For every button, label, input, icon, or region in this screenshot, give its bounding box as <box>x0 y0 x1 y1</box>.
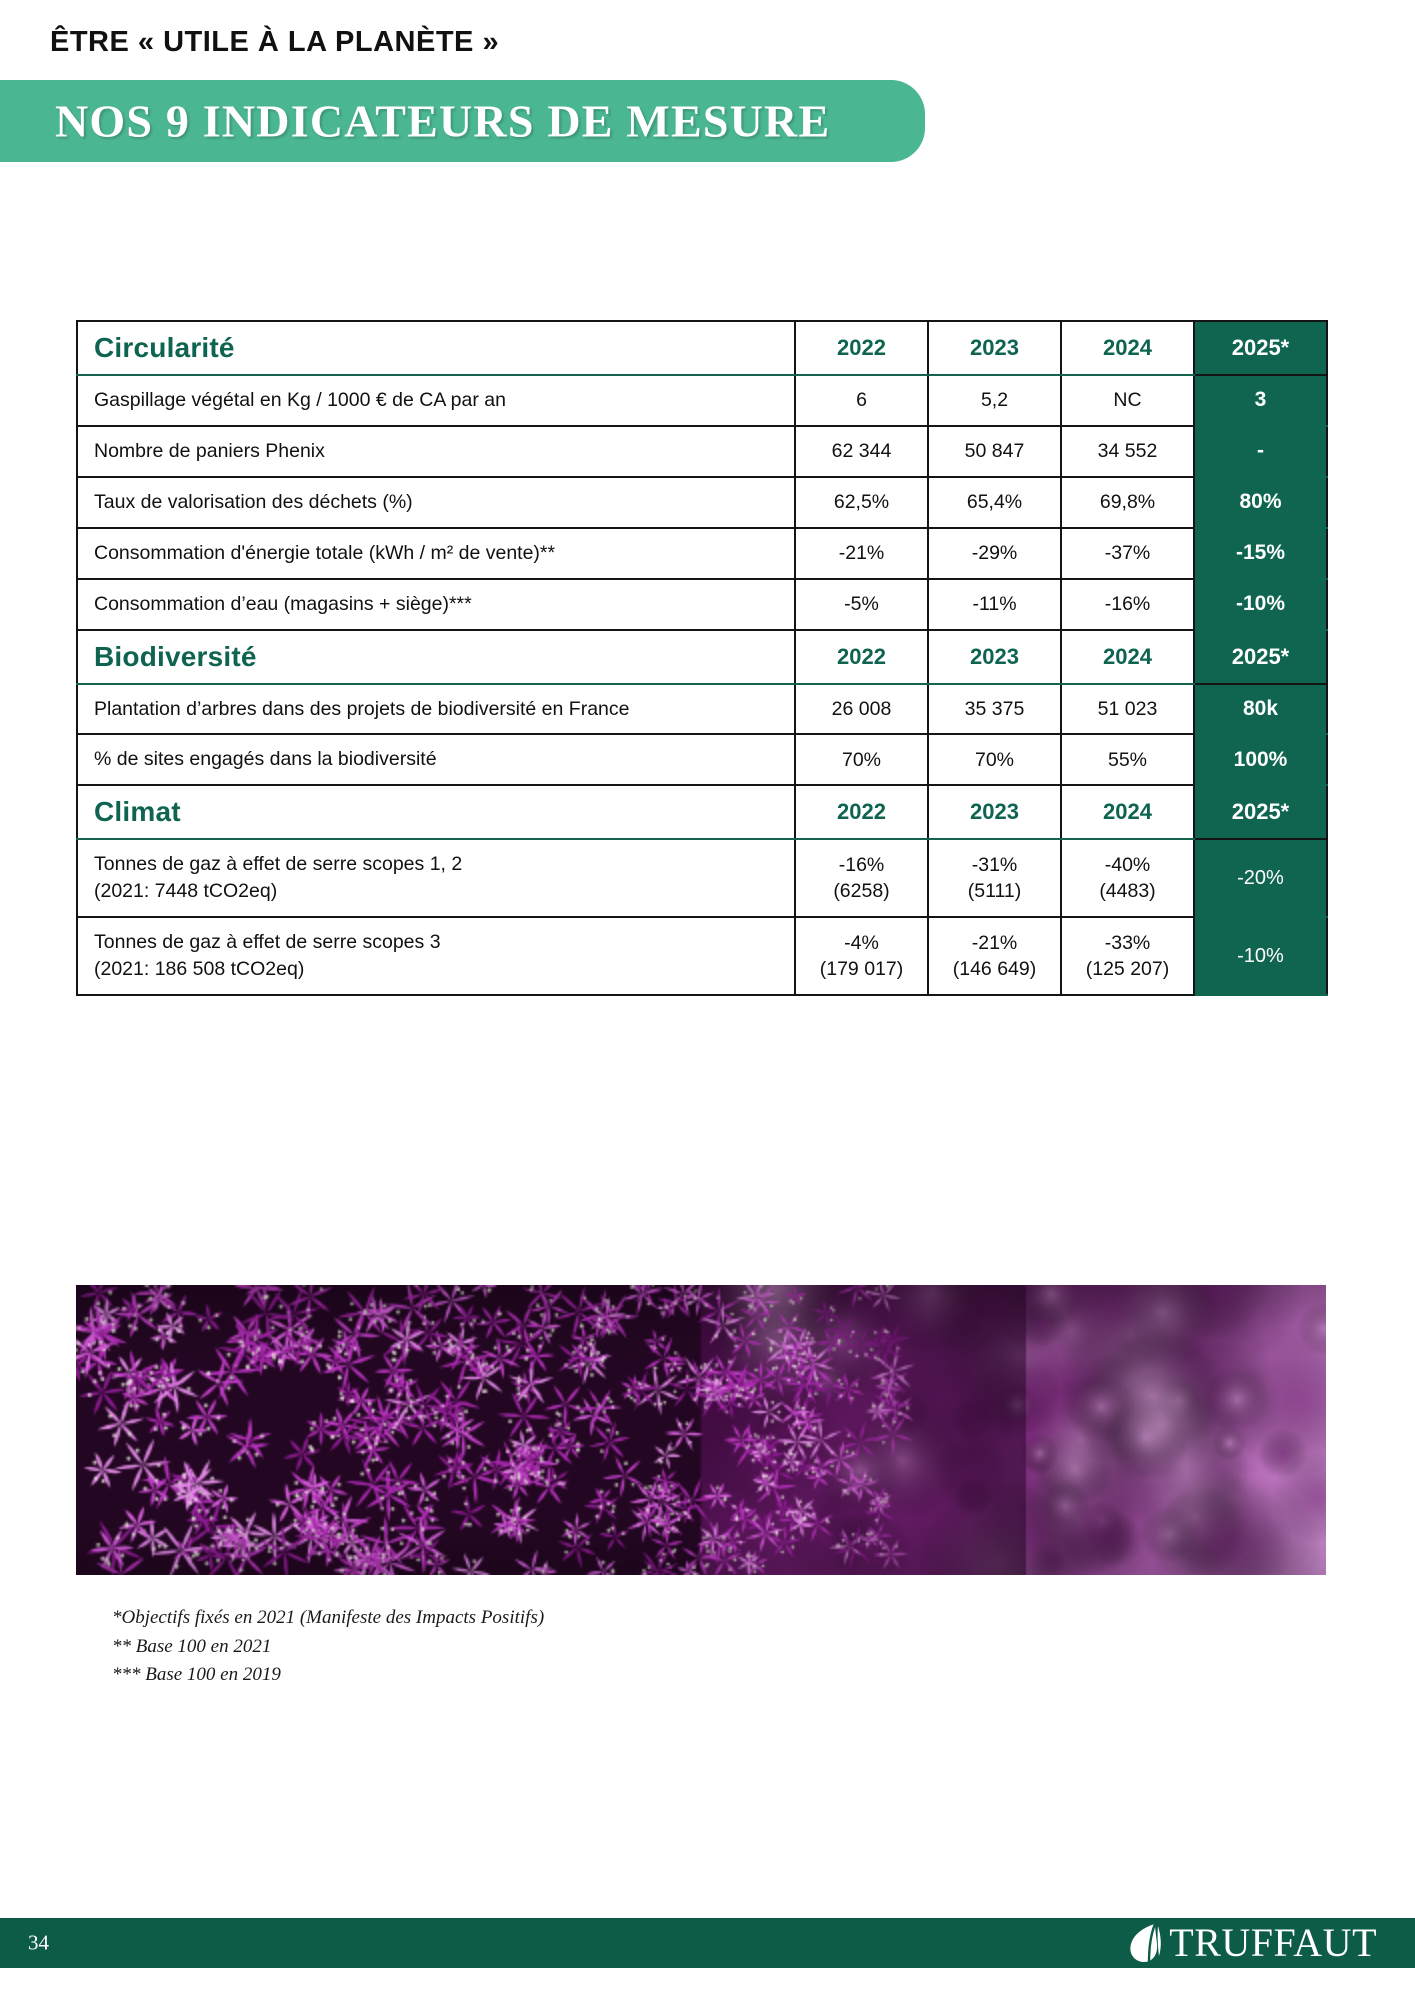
indicator-value-2023: 65,4% <box>928 477 1061 528</box>
indicator-value-2023: 5,2 <box>928 375 1061 426</box>
table-row: % de sites engagés dans la biodiversité7… <box>77 734 1327 785</box>
indicator-label: Consommation d'énergie totale (kWh / m² … <box>77 528 795 579</box>
leaf-icon <box>1125 1922 1165 1964</box>
indicator-value-2023: -11% <box>928 579 1061 630</box>
indicator-value-2022: 6 <box>795 375 928 426</box>
column-header-2025target: 2025* <box>1194 630 1327 684</box>
table-row: Consommation d’eau (magasins + siège)***… <box>77 579 1327 630</box>
indicator-label: Taux de valorisation des déchets (%) <box>77 477 795 528</box>
table-row: Tonnes de gaz à effet de serre scopes 1,… <box>77 839 1327 917</box>
flower-photo-canvas <box>76 1285 1326 1575</box>
indicators-table: Circularité2022202320242025*Gaspillage v… <box>76 320 1328 996</box>
brand-logo: TRUFFAUT <box>1125 1922 1377 1964</box>
indicator-value-2024: -40%(4483) <box>1061 839 1194 917</box>
table-row: Gaspillage végétal en Kg / 1000 € de CA … <box>77 375 1327 426</box>
indicator-value-2023: 35 375 <box>928 684 1061 735</box>
column-header-2022: 2022 <box>795 321 928 375</box>
indicator-target-2025: -10% <box>1194 917 1327 995</box>
section-title: Biodiversité <box>77 630 795 684</box>
indicator-target-2025: 80k <box>1194 684 1327 735</box>
page-title: NOS 9 INDICATEURS DE MESURE <box>55 95 830 148</box>
column-header-2024: 2024 <box>1061 630 1194 684</box>
indicator-label: Tonnes de gaz à effet de serre scopes 1,… <box>77 839 795 917</box>
page-eyebrow-title: ÊTRE « UTILE À LA PLANÈTE » <box>50 26 499 59</box>
page-footer: 34 TRUFFAUT <box>0 1918 1415 1968</box>
indicator-label: Tonnes de gaz à effet de serre scopes 3(… <box>77 917 795 995</box>
footnotes: *Objectifs fixés en 2021 (Manifeste des … <box>112 1604 544 1690</box>
table-row: Nombre de paniers Phenix62 34450 84734 5… <box>77 426 1327 477</box>
column-header-2023: 2023 <box>928 785 1061 839</box>
table-body: Circularité2022202320242025*Gaspillage v… <box>77 321 1327 995</box>
indicator-value-2023: -29% <box>928 528 1061 579</box>
column-header-2025target: 2025* <box>1194 785 1327 839</box>
brand-name: TRUFFAUT <box>1169 1923 1377 1963</box>
indicator-value-2022: -21% <box>795 528 928 579</box>
column-header-2023: 2023 <box>928 321 1061 375</box>
indicator-value-2024: 34 552 <box>1061 426 1194 477</box>
indicator-value-2022: -5% <box>795 579 928 630</box>
indicator-value-2024: -16% <box>1061 579 1194 630</box>
section-title: Circularité <box>77 321 795 375</box>
indicator-target-2025: -20% <box>1194 839 1327 917</box>
indicator-target-2025: 3 <box>1194 375 1327 426</box>
indicator-value-2023: 70% <box>928 734 1061 785</box>
footnote-1: *Objectifs fixés en 2021 (Manifeste des … <box>112 1604 544 1633</box>
indicator-target-2025: -15% <box>1194 528 1327 579</box>
column-header-2024: 2024 <box>1061 785 1194 839</box>
column-header-2022: 2022 <box>795 785 928 839</box>
indicator-value-2024: -37% <box>1061 528 1194 579</box>
indicator-value-2022: 70% <box>795 734 928 785</box>
indicator-value-2024: 51 023 <box>1061 684 1194 735</box>
table-row: Tonnes de gaz à effet de serre scopes 3(… <box>77 917 1327 995</box>
indicator-value-2022: -16%(6258) <box>795 839 928 917</box>
indicator-target-2025: 80% <box>1194 477 1327 528</box>
page-number: 34 <box>28 1931 49 1956</box>
section-title: Climat <box>77 785 795 839</box>
indicator-value-2023: -21%(146 649) <box>928 917 1061 995</box>
footnote-3: *** Base 100 en 2019 <box>112 1661 544 1690</box>
column-header-2022: 2022 <box>795 630 928 684</box>
indicator-value-2023: 50 847 <box>928 426 1061 477</box>
footnote-2: ** Base 100 en 2021 <box>112 1633 544 1662</box>
table-section-header: Circularité2022202320242025* <box>77 321 1327 375</box>
indicator-target-2025: - <box>1194 426 1327 477</box>
table-row: Consommation d'énergie totale (kWh / m² … <box>77 528 1327 579</box>
indicator-value-2024: 55% <box>1061 734 1194 785</box>
section-banner: NOS 9 INDICATEURS DE MESURE <box>0 80 925 162</box>
column-header-2025target: 2025* <box>1194 321 1327 375</box>
indicator-value-2024: -33%(125 207) <box>1061 917 1194 995</box>
indicator-value-2022: 26 008 <box>795 684 928 735</box>
indicator-value-2024: 69,8% <box>1061 477 1194 528</box>
indicator-value-2024: NC <box>1061 375 1194 426</box>
indicator-value-2022: 62,5% <box>795 477 928 528</box>
table-row: Taux de valorisation des déchets (%)62,5… <box>77 477 1327 528</box>
indicator-label: Plantation d’arbres dans des projets de … <box>77 684 795 735</box>
column-header-2023: 2023 <box>928 630 1061 684</box>
table-section-header: Climat2022202320242025* <box>77 785 1327 839</box>
indicator-target-2025: -10% <box>1194 579 1327 630</box>
table-row: Plantation d’arbres dans des projets de … <box>77 684 1327 735</box>
indicator-target-2025: 100% <box>1194 734 1327 785</box>
indicator-value-2022: -4%(179 017) <box>795 917 928 995</box>
indicator-label: % de sites engagés dans la biodiversité <box>77 734 795 785</box>
flower-photo <box>76 1285 1326 1575</box>
table-section-header: Biodiversité2022202320242025* <box>77 630 1327 684</box>
column-header-2024: 2024 <box>1061 321 1194 375</box>
indicator-label: Consommation d’eau (magasins + siège)*** <box>77 579 795 630</box>
indicator-value-2023: -31%(5111) <box>928 839 1061 917</box>
indicator-value-2022: 62 344 <box>795 426 928 477</box>
indicator-label: Gaspillage végétal en Kg / 1000 € de CA … <box>77 375 795 426</box>
indicator-label: Nombre de paniers Phenix <box>77 426 795 477</box>
